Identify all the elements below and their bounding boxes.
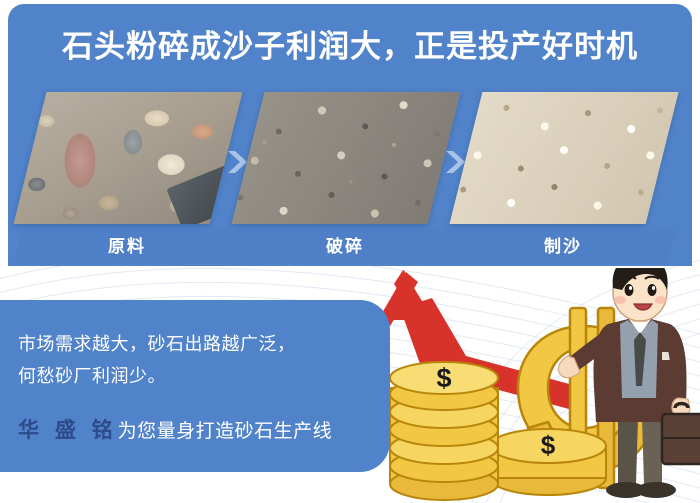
process-step-label-text: 破碎 <box>236 230 454 263</box>
message-card: 市场需求越大，砂石出路越广泛， 何愁砂厂利润少。 华 盛 铭为您量身打造砂石生产… <box>0 300 390 472</box>
river-pebbles-photo <box>14 92 243 224</box>
message-line-2: 何愁砂厂利润少。 <box>18 362 166 388</box>
process-step-sand-making[interactable]: 制沙 <box>466 92 662 267</box>
coin-stack-small: $ <box>490 429 606 495</box>
process-step-label-text: 原料 <box>18 230 236 263</box>
process-step-label: 原料 <box>14 230 240 263</box>
page-title: 石头粉碎成沙子利润大，正是投产好时机 <box>8 28 692 65</box>
process-step-crushing[interactable]: 破碎 <box>248 92 444 267</box>
manufactured-sand-photo <box>450 92 679 224</box>
coin-stack-main: $ <box>390 362 498 500</box>
process-flow: 原料 破碎 制沙 <box>8 92 692 267</box>
brand-tagline: 华 盛 铭为您量身打造砂石生产线 <box>18 414 332 444</box>
brand-name: 华 盛 铭 <box>18 419 118 442</box>
process-step-label: 制沙 <box>450 230 676 263</box>
crushed-gravel-photo <box>232 92 461 224</box>
tagline-text: 为您量身打造砂石生产线 <box>118 421 333 442</box>
process-step-label: 破碎 <box>232 230 458 263</box>
coin-dollar-symbol: $ <box>541 430 556 460</box>
business-growth-illustration: $ $ <box>370 268 700 503</box>
coin-dollar-symbol: $ <box>436 363 451 393</box>
message-line-1: 市场需求越大，砂石出路越广泛， <box>18 330 296 356</box>
process-step-label-text: 制沙 <box>454 230 672 263</box>
process-step-raw-material[interactable]: 原料 <box>30 92 226 267</box>
promotional-poster: 石头粉碎成沙子利润大，正是投产好时机 原料 破碎 <box>0 0 700 503</box>
